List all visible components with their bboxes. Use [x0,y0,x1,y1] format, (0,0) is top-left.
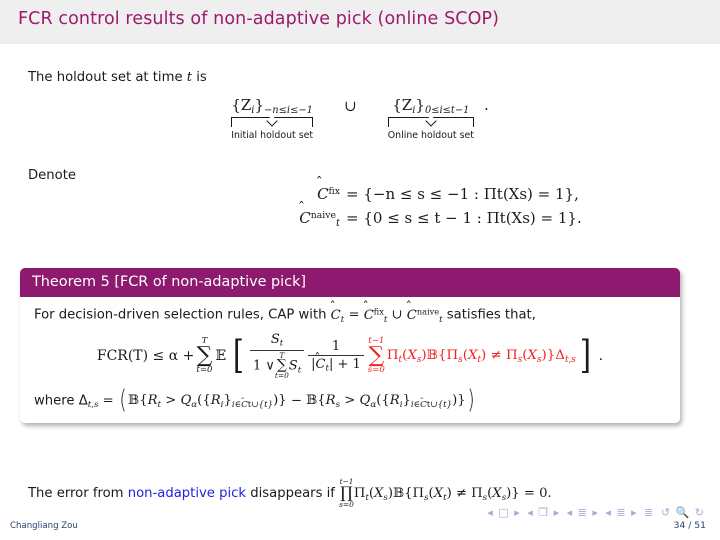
product-symbol: ∏ [340,485,353,500]
fraction-numerator: St [268,332,286,350]
outer-sum-symbol: ∑ [197,346,213,366]
fcr-formula-lhs: FCR(T) ≤ α + [97,348,195,364]
expectation-operator: 𝔼 [216,348,227,364]
nav-icon-back-search-forward[interactable]: ↺ 🔍 ↻ [661,506,705,519]
online-holdout-close: } [415,96,425,114]
fraction-st-over-sum: St 1 ∨T∑t=0St [250,332,304,380]
delta-paren-open: ( [119,390,126,411]
inner-sum-symbol: ∑ [368,346,384,366]
slide-title-bar: FCR control results of non-adaptive pick… [0,0,720,44]
cnaive-superscript: naive [311,210,336,221]
initial-holdout-close: } [254,96,264,114]
holdout-intro-suffix: is [192,70,207,85]
theorem-intro-union: ∪ [387,308,406,323]
numerator-s-sub: t [280,339,283,349]
theorem-intro-prefix: For decision-driven selection rules, CAP… [34,308,331,323]
denominator-sum-lower: t=0 [275,372,289,379]
theorem-body: For decision-driven selection rules, CAP… [20,297,680,423]
bracket-open: [ [233,342,244,369]
closing-highlight: non-adaptive pick [128,486,246,501]
outer-sum-lower-limit: t=0 [196,366,212,375]
online-holdout-open: {Z [392,96,412,114]
theorem-chat-letter: C [331,308,341,323]
delta-definition-line: where Δt,s = (𝔹{Rt > Qα({Ri}i∈̂Ct∪{t})} … [34,390,666,412]
formula-period: . [599,348,603,364]
closing-expression: Πt(Xs)𝔹{Πs(Xt) ≠ Πs(Xs)} = 0. [354,486,552,501]
footer-author: Changliang Zou [10,521,78,531]
card-c-letter: C [316,357,326,372]
cnaive-letter: C [299,209,310,227]
online-holdout-group: {Zi}0≤i≤t−1 Online holdout set [388,96,474,141]
initial-holdout-group: {Zi}−n≤i≤−1 Initial holdout set [231,96,313,141]
inner-summation: t−1 ∑ s=0 [368,337,385,374]
theorem-chat: ̂Ct [331,308,345,323]
bracket-close: ] [580,342,591,369]
holdout-set-equation: {Zi}−n≤i≤−1 Initial holdout set ∪ {Zi}0≤… [0,96,720,141]
outer-summation: T ∑ t=0 [196,337,212,374]
inner-sum-body: Πt(Xs)𝔹{Πs(Xt) ≠ Πs(Xs)}Δt,s [387,348,576,365]
online-holdout-expression: {Zi}0≤i≤t−1 [388,96,474,116]
delta-def-prefix: where Δ [34,393,88,408]
theorem-intro-suffix: satisfies that, [443,308,536,323]
denote-equations: ̂Cfix= {−n ≤ s ≤ −1 : Πt(Xs) = 1}, ̂Cnai… [0,182,720,233]
nav-icon-frame[interactable]: ◂ □ ▸ [487,506,520,519]
nav-icon-section[interactable]: ◂ ≣ ▸ [605,506,637,519]
closing-prefix: The error from [28,486,128,501]
delta-term-one: 𝔹{Rt > Qα({Ri}i∈̂Ct∪{t})} [128,393,287,408]
theorem-cfix: ̂Cfixt [364,308,388,323]
card-fraction-denominator: |̂Ct| + 1 [308,355,364,374]
denominator-sum-symbol: ∑ [277,359,287,372]
online-holdout-range: 0≤i≤t−1 [425,105,470,116]
cnaive-rhs: = {0 ≤ s ≤ t − 1 : Πt(Xs) = 1}. [340,206,582,230]
denominator-s-sub: t [298,365,301,375]
nav-icon-subsection[interactable]: ◂ ≣ ▸ [567,506,599,519]
holdout-intro-prefix: The holdout set at time [28,70,187,85]
delta-def-equals: = [98,393,117,408]
fraction-denominator: 1 ∨T∑t=0St [250,350,304,380]
beamer-navigation-icons[interactable]: ◂ □ ▸ ◂ ❐ ▸ ◂ ≣ ▸ ◂ ≣ ▸ ≣ ↺ 🔍 ↻ [486,506,706,519]
fraction-one-over-card: 1 |̂Ct| + 1 [308,339,364,374]
card-fraction-numerator: 1 [329,339,343,355]
denominator-sum: T∑t=0 [275,352,289,380]
cnaive-lhs: ̂Cnaivet [0,206,340,232]
holdout-intro-line: The holdout set at time t is [28,70,207,85]
fcr-bound-formula: FCR(T) ≤ α + T ∑ t=0 𝔼 [ St 1 ∨T∑t=0St 1… [34,332,666,380]
theorem-cfix-letter: C [364,308,374,323]
online-holdout-label: Online holdout set [388,130,474,141]
initial-holdout-label: Initial holdout set [231,130,313,141]
cfix-letter: C [317,185,328,203]
cfix-superscript: fix [329,186,340,197]
union-symbol: ∪ [344,96,357,115]
theorem-cnaive-letter: C [407,308,417,323]
initial-holdout-underbrace [231,117,313,127]
product-lower-limit: s=0 [339,501,354,508]
theorem-cfix-sup: fix [374,306,384,316]
denote-equation-row: ̂Cnaivet= {0 ≤ s ≤ t − 1 : Πt(Xs) = 1}. [0,206,720,232]
theorem-block: Theorem 5 [FCR of non-adaptive pick] For… [20,268,680,423]
card-bar-close-plus-one: | + 1 [329,357,361,372]
closing-statement: The error from non-adaptive pick disappe… [28,478,552,508]
holdout-equation-period: . [484,96,489,114]
denote-label: Denote [28,168,76,183]
inner-sum-lower-limit: s=0 [368,366,385,375]
theorem-cnaive-sup: naive [417,306,439,316]
theorem-intro-equals: = [344,308,363,323]
closing-middle: disappears if [246,486,339,501]
denote-equation-row: ̂Cfix= {−n ≤ s ≤ −1 : Πt(Xs) = 1}, [0,182,720,206]
theorem-cnaive: ̂Cnaivet [407,308,443,323]
numerator-s: S [271,332,280,347]
page-title: FCR control results of non-adaptive pick… [18,9,499,29]
denominator-s: S [289,358,298,373]
delta-def-sub: t,s [88,400,99,410]
delta-term-two: 𝔹{Rs > Qα({Ri}i∈̂Ct∪{t})} [306,393,466,408]
closing-product: t−1∏s=0 [339,478,354,508]
cfix-lhs: ̂Cfix [0,182,340,206]
cfix-rhs: = {−n ≤ s ≤ −1 : Πt(Xs) = 1}, [340,182,579,206]
theorem-header: Theorem 5 [FCR of non-adaptive pick] [20,268,680,297]
footer-page-number: 34 / 51 [674,520,706,531]
initial-holdout-expression: {Zi}−n≤i≤−1 [231,96,313,116]
initial-holdout-open: {Z [231,96,251,114]
nav-icon-document[interactable]: ≣ [644,506,654,519]
denominator-one-vee: 1 ∨ [253,358,275,373]
delta-minus: − [287,393,306,408]
theorem-intro-line: For decision-driven selection rules, CAP… [34,306,666,326]
nav-icon-slide[interactable]: ◂ ❐ ▸ [527,506,560,519]
delta-paren-close: ) [467,390,474,411]
online-holdout-underbrace [388,117,474,127]
